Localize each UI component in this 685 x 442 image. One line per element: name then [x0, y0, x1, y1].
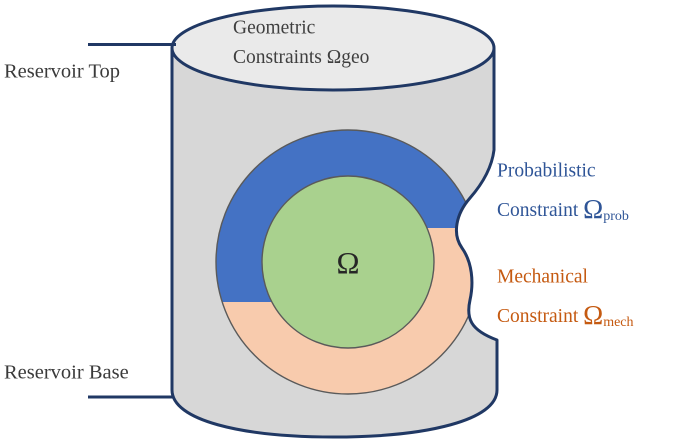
- cylinder-group: [172, 6, 497, 437]
- probabilistic-omega-subscript: prob: [603, 209, 629, 224]
- probabilistic-constraint-line1: Probabilistic: [497, 160, 596, 181]
- probabilistic-constraint-prefix: Constraint: [497, 200, 583, 221]
- probabilistic-omega-symbol: Ω: [583, 194, 603, 224]
- geometric-constraints-line2: Constraints Ωgeo: [233, 47, 369, 68]
- reservoir-constraint-diagram: Reservoir Top Reservoir Base Geometric C…: [0, 0, 685, 442]
- reservoir-base-label: Reservoir Base: [4, 362, 129, 384]
- probabilistic-constraint-line2: Constraint Ωprob: [497, 194, 629, 224]
- mechanical-omega-subscript: mech: [603, 315, 633, 330]
- mechanical-constraint-prefix: Constraint: [497, 306, 583, 327]
- geometric-constraints-line1: Geometric: [233, 17, 316, 38]
- center-omega-symbol: Ω: [336, 245, 359, 280]
- geometric-omega-subscript: geo: [341, 47, 369, 68]
- diagram-canvas: Reservoir Top Reservoir Base Geometric C…: [0, 0, 685, 442]
- mechanical-omega-symbol: Ω: [583, 300, 603, 330]
- reservoir-top-label: Reservoir Top: [4, 61, 120, 83]
- geometric-omega-symbol: Ω: [327, 47, 342, 68]
- mechanical-constraint-line1: Mechanical: [497, 266, 589, 287]
- geometric-constraints-prefix: Constraints: [233, 47, 327, 68]
- mechanical-constraint-line2: Constraint Ωmech: [497, 300, 634, 330]
